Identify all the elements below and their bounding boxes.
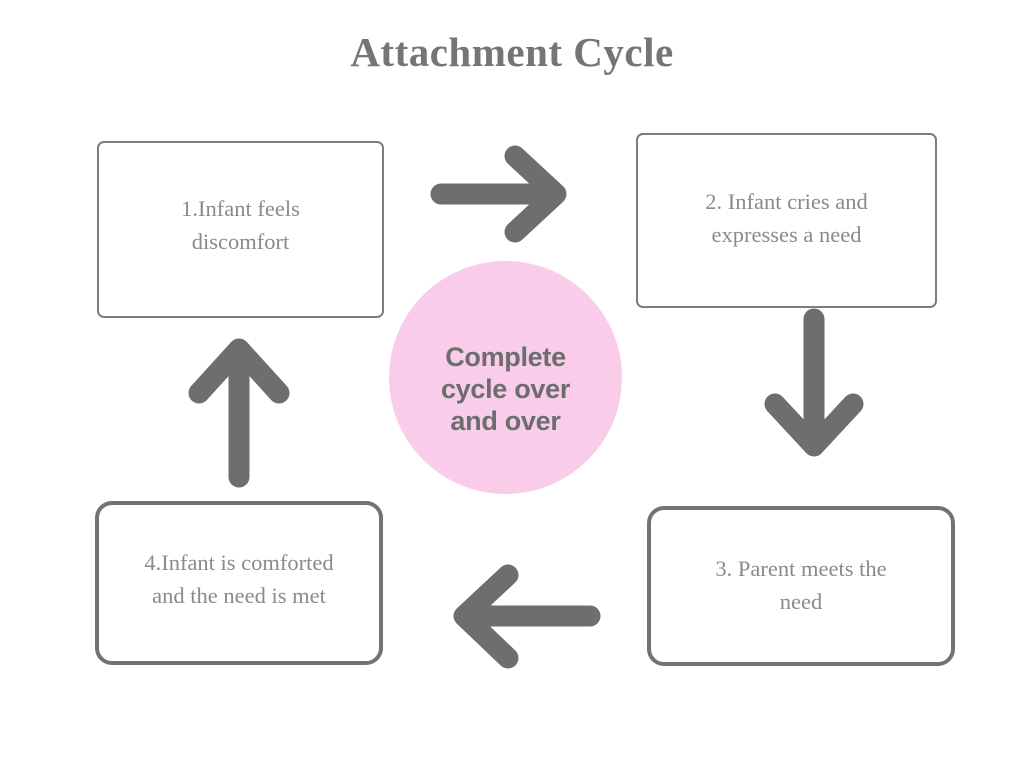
step-box-3: 3. Parent meets theneed [647, 506, 955, 666]
arrow-left-icon [450, 563, 610, 668]
step-box-1: 1.Infant feelsdiscomfort [97, 141, 384, 318]
step-box-1-line-2: discomfort [192, 229, 289, 254]
step-box-4-line-1: 4.Infant is comforted [144, 550, 333, 575]
cycle-center-line-2: cycle over [441, 374, 570, 404]
step-box-3-label: 3. Parent meets theneed [651, 552, 951, 618]
step-box-2: 2. Infant cries andexpresses a need [636, 133, 937, 308]
step-box-2-label: 2. Infant cries andexpresses a need [638, 185, 935, 251]
arrow-right-icon [428, 148, 578, 248]
step-box-3-line-1: 3. Parent meets the [715, 556, 886, 581]
cycle-center-label: Completecycle overand over [389, 341, 622, 437]
arrow-down-icon [758, 306, 868, 466]
step-box-2-line-2: expresses a need [712, 222, 862, 247]
step-box-4: 4.Infant is comfortedand the need is met [95, 501, 383, 665]
step-box-4-label: 4.Infant is comfortedand the need is met [99, 546, 379, 612]
step-box-1-line-1: 1.Infant feels [181, 196, 300, 221]
arrow-up-icon [184, 335, 294, 490]
page-title: Attachment Cycle [0, 26, 1024, 78]
diagram-canvas: Attachment Cycle 1.Infant feelsdiscomfor… [0, 0, 1024, 768]
cycle-center-line-3: and over [450, 406, 560, 436]
step-box-4-line-2: and the need is met [152, 583, 326, 608]
step-box-2-line-1: 2. Infant cries and [705, 189, 867, 214]
cycle-center-line-1: Complete [445, 342, 566, 372]
step-box-3-line-2: need [780, 589, 822, 614]
step-box-1-label: 1.Infant feelsdiscomfort [99, 192, 382, 258]
cycle-center-circle: Completecycle overand over [389, 261, 622, 494]
